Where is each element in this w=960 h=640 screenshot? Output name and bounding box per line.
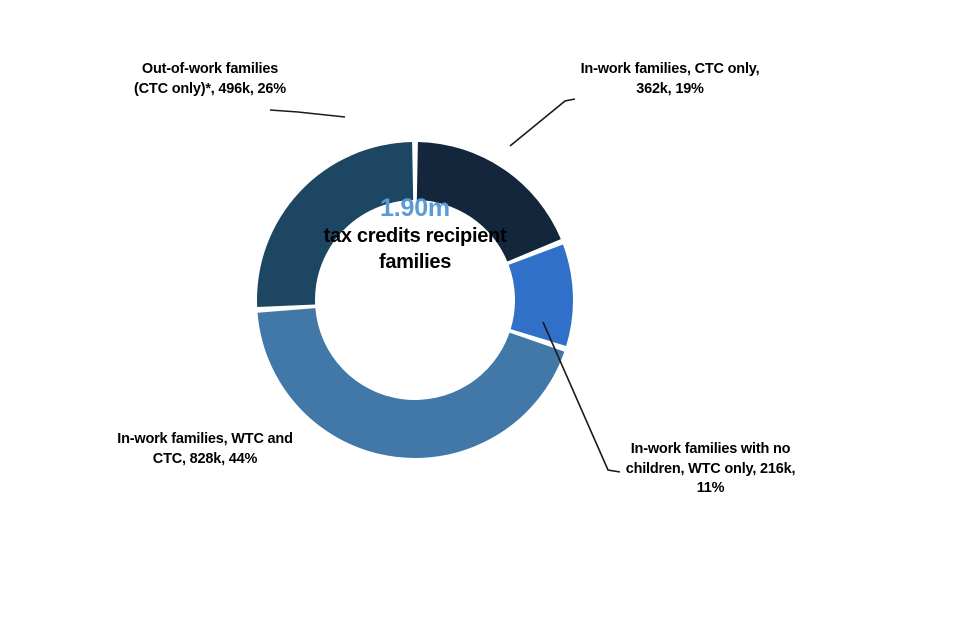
center-caption-line1: tax credits recipient: [295, 224, 535, 250]
slice-label-out-of-work-line2: (CTC only)*, 496k, 26%: [95, 80, 325, 100]
center-caption-line2: families: [295, 250, 535, 276]
donut-slices: [257, 142, 573, 458]
slice-label-wtc-and-ctc-line2: CTC, 828k, 44%: [80, 450, 330, 470]
slice-label-wtc-and-ctc-line1: In-work families, WTC and: [80, 430, 330, 450]
slice-label-no-children-line2: children, WTC only, 216k,: [598, 460, 823, 480]
slice-label-in-work-wtc-and-ctc: In-work families, WTC and CTC, 828k, 44%: [80, 430, 330, 469]
slice-label-out-of-work-line1: Out-of-work families: [95, 60, 325, 80]
center-label-group: 1.90m tax credits recipient families: [295, 192, 535, 275]
slice-label-out-of-work: Out-of-work families (CTC only)*, 496k, …: [95, 60, 325, 99]
slice-label-ctc-only-line2: 362k, 19%: [556, 80, 784, 100]
leader-line-out-of-work: [270, 110, 345, 117]
donut-chart: 1.90m tax credits recipient families Out…: [0, 0, 960, 640]
slice-label-no-children-line3: 11%: [598, 479, 823, 499]
slice-label-no-children-line1: In-work families with no: [598, 440, 823, 460]
leader-line-ctc-only: [510, 99, 575, 146]
slice-label-in-work-ctc-only: In-work families, CTC only, 362k, 19%: [556, 60, 784, 99]
slice-label-ctc-only-line1: In-work families, CTC only,: [556, 60, 784, 80]
center-total-value: 1.90m: [295, 192, 535, 224]
slice-label-in-work-no-children: In-work families with no children, WTC o…: [598, 440, 823, 499]
